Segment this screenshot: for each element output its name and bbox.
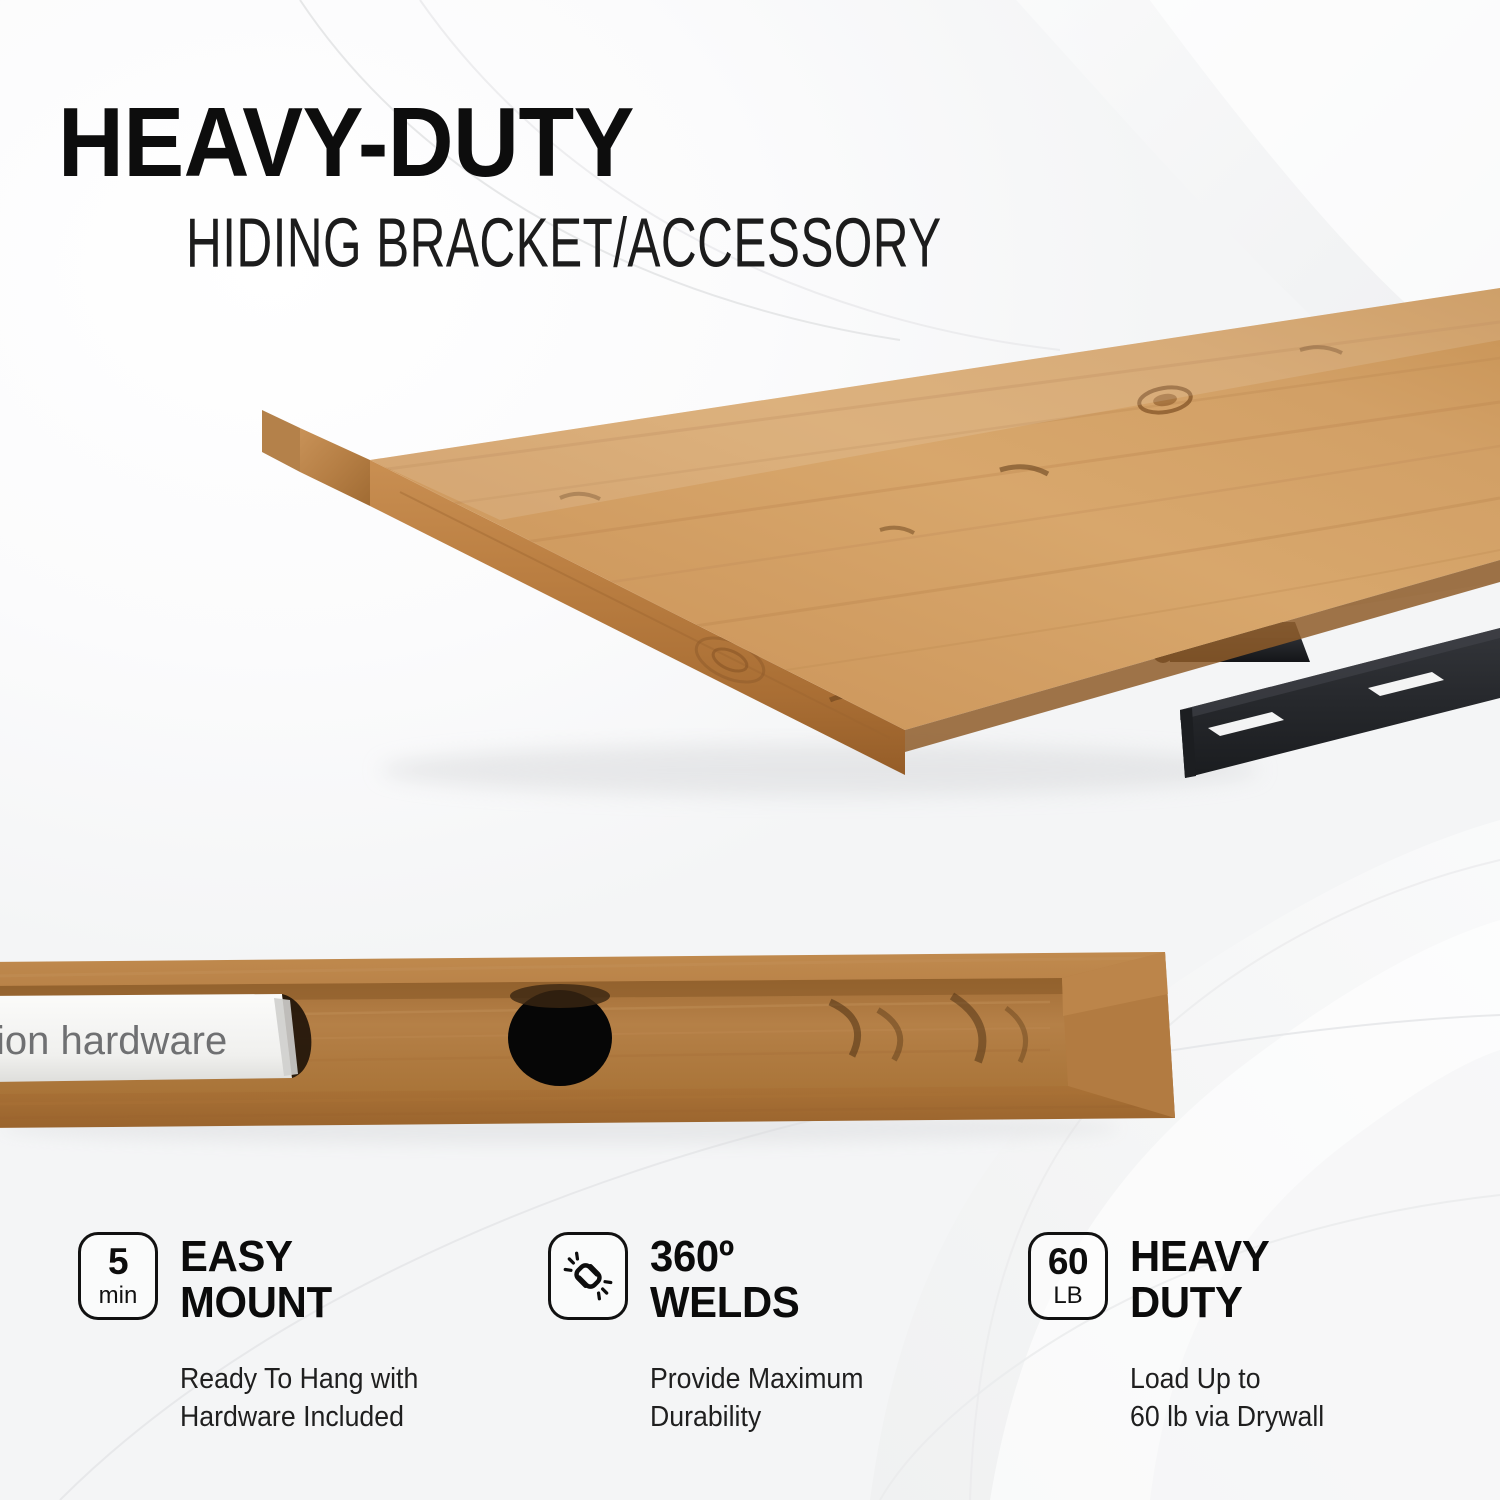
badge-number: 5 bbox=[108, 1243, 128, 1280]
weld-badge bbox=[548, 1232, 628, 1320]
feature-title: 360º WELDS bbox=[650, 1232, 800, 1326]
feature-highlights-row: 5 min EASY MOUNT Ready To Hang with Hard… bbox=[0, 1232, 1500, 1462]
feature-easy-mount: 5 min EASY MOUNT Ready To Hang with Hard… bbox=[0, 1232, 480, 1462]
chain-link-weld-icon bbox=[562, 1250, 614, 1302]
badge-unit: LB bbox=[1053, 1282, 1082, 1310]
feature-title: EASY MOUNT bbox=[180, 1232, 332, 1326]
feature-description: Load Up to 60 lb via Drywall bbox=[1130, 1360, 1415, 1438]
time-badge: 5 min bbox=[78, 1232, 158, 1320]
badge-unit: min bbox=[99, 1282, 138, 1310]
product-photo-shelf-back-channel: ion hardware bbox=[0, 890, 1500, 1190]
feature-360-welds: 360º WELDS Provide Maximum Durability bbox=[480, 1232, 960, 1462]
feature-heavy-duty: 60 LB HEAVY DUTY Load Up to 60 lb via Dr… bbox=[960, 1232, 1440, 1462]
feature-head: 360º WELDS bbox=[548, 1232, 960, 1326]
feature-head: 5 min EASY MOUNT bbox=[78, 1232, 480, 1326]
feature-description: Provide Maximum Durability bbox=[650, 1360, 935, 1438]
page-subtitle: HIDING BRACKET/ACCESSORY bbox=[186, 208, 980, 279]
weight-badge: 60 LB bbox=[1028, 1232, 1108, 1320]
shelf-left-end bbox=[300, 428, 370, 506]
product-infographic-page: HEAVY-DUTY HIDING BRACKET/ACCESSORY bbox=[0, 0, 1500, 1500]
feature-title: HEAVY DUTY bbox=[1130, 1232, 1270, 1326]
page-title: HEAVY-DUTY bbox=[58, 96, 1100, 188]
feature-description: Ready To Hang with Hardware Included bbox=[180, 1360, 456, 1438]
hardware-package-box-inserted: ion hardware bbox=[0, 994, 311, 1082]
package-label-text-continued: ion hardware bbox=[0, 1019, 227, 1063]
product-photo-shelf-with-bracket: Installatio bbox=[0, 230, 1500, 850]
feature-head: 60 LB HEAVY DUTY bbox=[1028, 1232, 1440, 1326]
headline-block: HEAVY-DUTY HIDING BRACKET/ACCESSORY bbox=[58, 96, 1178, 275]
badge-number: 60 bbox=[1048, 1243, 1088, 1280]
